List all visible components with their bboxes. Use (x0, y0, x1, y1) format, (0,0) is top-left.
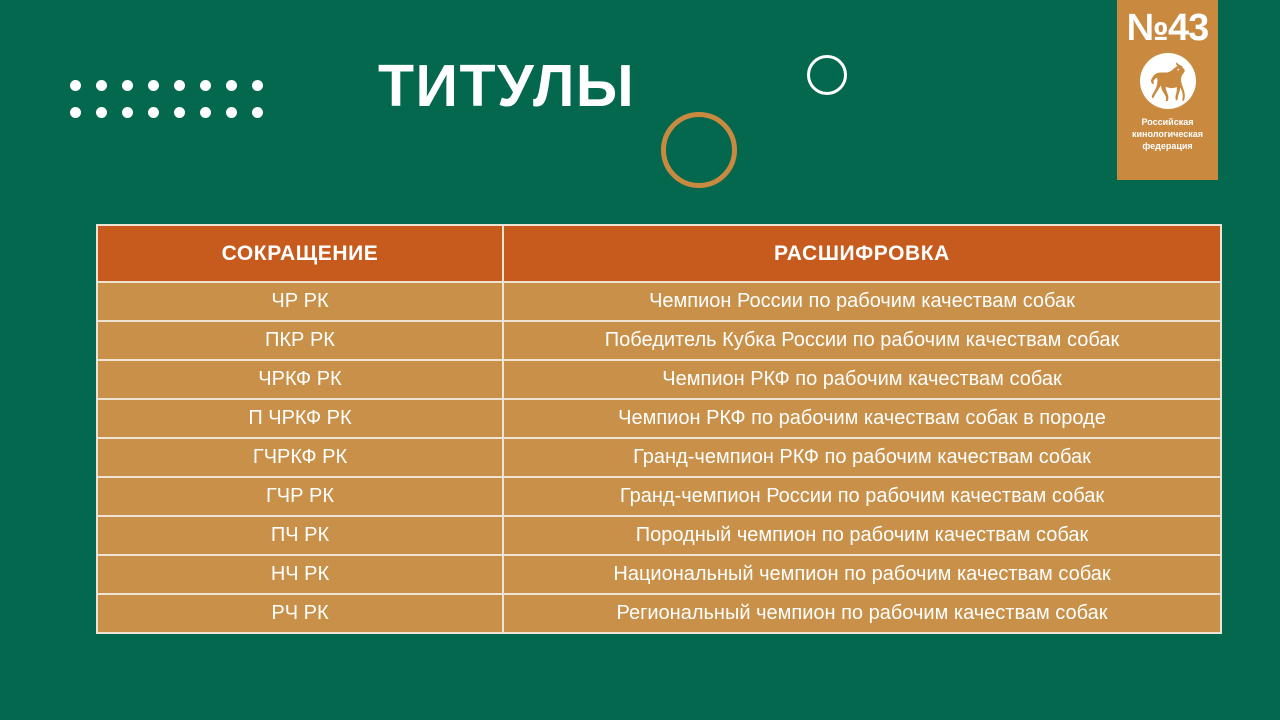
table-row: ПЧ РКПородный чемпион по рабочим качеств… (97, 516, 1221, 555)
decorative-dot (70, 80, 81, 91)
decorative-dot (96, 107, 107, 118)
titles-table: СОКРАЩЕНИЕ РАСШИФРОВКА ЧР РКЧемпион Росс… (96, 224, 1222, 634)
cell-meaning: Чемпион РКФ по рабочим качествам собак в… (503, 399, 1221, 438)
badge-number: №43 (1127, 9, 1209, 47)
column-header-meaning: РАСШИФРОВКА (503, 225, 1221, 282)
table-row: ПКР РКПобедитель Кубка России по рабочим… (97, 321, 1221, 360)
cell-meaning: Чемпион РКФ по рабочим качествам собак (503, 360, 1221, 399)
table-row: НЧ РКНациональный чемпион по рабочим кач… (97, 555, 1221, 594)
decorative-dot-grid (70, 80, 278, 134)
cell-meaning: Чемпион России по рабочим качествам соба… (503, 282, 1221, 321)
table-header-row: СОКРАЩЕНИЕ РАСШИФРОВКА (97, 225, 1221, 282)
cell-abbreviation: ЧР РК (97, 282, 503, 321)
badge-org-line-3: федерация (1120, 140, 1216, 152)
decorative-dot (122, 80, 133, 91)
badge-organization-name: Российская кинологическая федерация (1120, 116, 1216, 152)
decorative-dot (226, 80, 237, 91)
cell-abbreviation: ЧРКФ РК (97, 360, 503, 399)
table-row: ГЧР РКГранд-чемпион России по рабочим ка… (97, 477, 1221, 516)
table-row: РЧ РКРегиональный чемпион по рабочим кач… (97, 594, 1221, 633)
cell-abbreviation: П ЧРКФ РК (97, 399, 503, 438)
cell-meaning: Породный чемпион по рабочим качествам со… (503, 516, 1221, 555)
decorative-circle-gold (661, 112, 737, 188)
cell-meaning: Победитель Кубка России по рабочим качес… (503, 321, 1221, 360)
cell-meaning: Региональный чемпион по рабочим качества… (503, 594, 1221, 633)
decorative-dot (200, 107, 211, 118)
decorative-dot (148, 107, 159, 118)
decorative-dot (200, 80, 211, 91)
table-row: ГЧРКФ РКГранд-чемпион РКФ по рабочим кач… (97, 438, 1221, 477)
decorative-dot (122, 107, 133, 118)
cell-abbreviation: ПКР РК (97, 321, 503, 360)
cell-meaning: Гранд-чемпион РКФ по рабочим качествам с… (503, 438, 1221, 477)
slide-canvas: ТИТУЛЫ №43 Российская кинологическая фед… (0, 0, 1280, 720)
decorative-dot (70, 107, 81, 118)
page-title: ТИТУЛЫ (378, 57, 635, 116)
cell-abbreviation: ПЧ РК (97, 516, 503, 555)
table-row: ЧР РКЧемпион России по рабочим качествам… (97, 282, 1221, 321)
decorative-circle-white (807, 55, 847, 95)
cell-abbreviation: НЧ РК (97, 555, 503, 594)
cell-abbreviation: РЧ РК (97, 594, 503, 633)
table-body: ЧР РКЧемпион России по рабочим качествам… (97, 282, 1221, 633)
cell-abbreviation: ГЧРКФ РК (97, 438, 503, 477)
badge-org-line-1: Российская (1120, 116, 1216, 128)
cell-meaning: Национальный чемпион по рабочим качества… (503, 555, 1221, 594)
cell-meaning: Гранд-чемпион России по рабочим качества… (503, 477, 1221, 516)
table-row: ЧРКФ РКЧемпион РКФ по рабочим качествам … (97, 360, 1221, 399)
logo-badge: №43 Российская кинологическая федерация (1117, 0, 1218, 180)
decorative-dot (174, 107, 185, 118)
decorative-dot (96, 80, 107, 91)
table-row: П ЧРКФ РКЧемпион РКФ по рабочим качества… (97, 399, 1221, 438)
decorative-dot (226, 107, 237, 118)
decorative-dot (252, 80, 263, 91)
column-header-abbreviation: СОКРАЩЕНИЕ (97, 225, 503, 282)
rkf-dog-icon (1140, 53, 1196, 109)
decorative-dot (252, 107, 263, 118)
decorative-dot (174, 80, 185, 91)
cell-abbreviation: ГЧР РК (97, 477, 503, 516)
badge-org-line-2: кинологическая (1120, 128, 1216, 140)
decorative-dot (148, 80, 159, 91)
